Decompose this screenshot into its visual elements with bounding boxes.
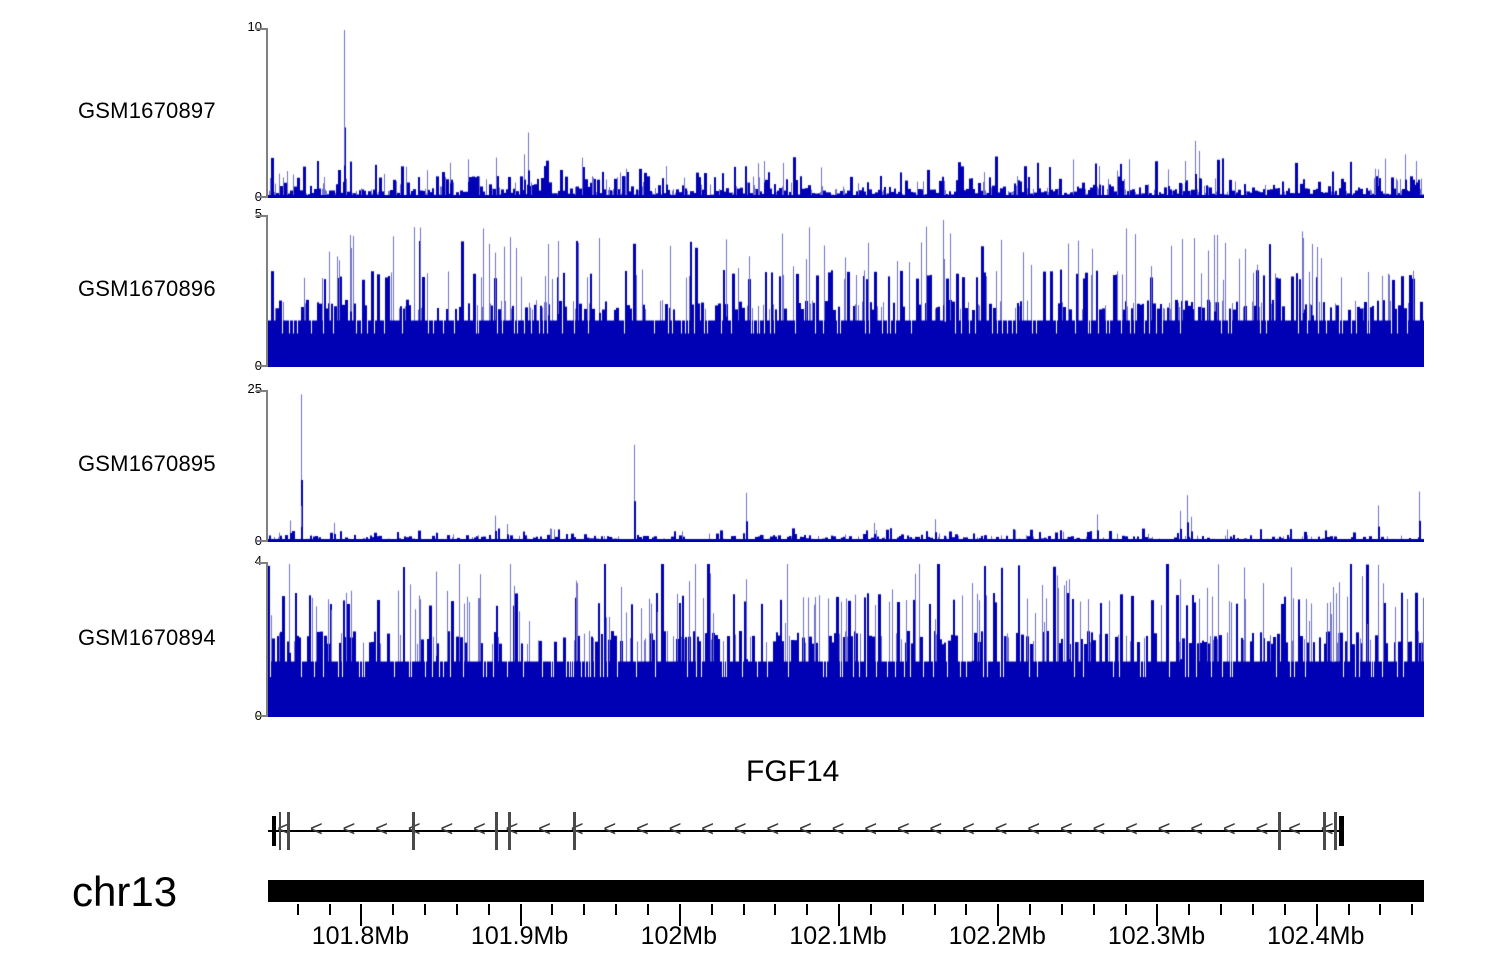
axis-minor-tick: [1252, 904, 1254, 915]
axis-minor-tick: [934, 904, 936, 915]
coverage-histogram: [268, 390, 1424, 542]
strand-arrow-icon: <: [1027, 818, 1040, 840]
axis-minor-tick: [806, 904, 808, 915]
y-axis-bottom-tick: [256, 540, 268, 542]
y-axis-bottom-tick: [256, 715, 268, 717]
axis-minor-tick: [1284, 904, 1286, 915]
strand-arrow-icon: <: [1158, 818, 1171, 840]
strand-arrow-icon: <: [538, 818, 551, 840]
exon-6[interactable]: [508, 812, 511, 850]
axis-minor-tick: [870, 904, 872, 915]
strand-arrow-icon: <: [1288, 818, 1301, 840]
strand-arrow-icon: <: [995, 818, 1008, 840]
strand-arrow-icon: <: [1060, 818, 1073, 840]
strand-arrow-icon: <: [929, 818, 942, 840]
axis-tick-label: 102.3Mb: [1108, 922, 1205, 951]
strand-arrow-icon: <: [343, 818, 356, 840]
axis-minor-tick: [329, 904, 331, 915]
track-label: GSM1670894: [78, 625, 216, 651]
exon-4[interactable]: [412, 812, 415, 850]
strand-arrow-icon: <: [962, 818, 975, 840]
coverage-histogram: [268, 562, 1424, 717]
gene-model-panel: FGF14 <<<<<<<<<<<<<<<<<<<<<<<<<<<<<<<<<: [0, 755, 1500, 870]
axis-minor-tick: [1125, 904, 1127, 915]
strand-arrow-icon: <: [1255, 818, 1268, 840]
axis-minor-tick: [1029, 904, 1031, 915]
chromosome-axis-panel: chr13 101.8Mb101.9Mb102Mb102.1Mb102.2Mb1…: [0, 860, 1500, 980]
strand-arrow-icon: <: [832, 818, 845, 840]
exon-11[interactable]: [1339, 816, 1344, 846]
strand-arrow-icon: <: [375, 818, 388, 840]
strand-arrow-icon: <: [1223, 818, 1236, 840]
axis-minor-tick: [297, 904, 299, 915]
chromosome-label: chr13: [72, 868, 177, 916]
coverage-plot-area[interactable]: [268, 28, 1424, 198]
y-axis-bottom-tick: [256, 196, 268, 198]
exon-9[interactable]: [1323, 812, 1326, 850]
axis-minor-tick: [1220, 904, 1222, 915]
axis-minor-tick: [424, 904, 426, 915]
strand-arrow-icon: <: [864, 818, 877, 840]
axis-minor-tick: [1188, 904, 1190, 915]
axis-minor-tick: [583, 904, 585, 915]
coverage-histogram: [268, 28, 1424, 198]
strand-arrow-icon: <: [897, 818, 910, 840]
coverage-histogram: [268, 215, 1424, 367]
strand-arrow-icon: <: [440, 818, 453, 840]
y-axis-max-label: 10: [228, 19, 262, 34]
coverage-track-gsm1670897[interactable]: GSM1670897100: [0, 28, 1500, 198]
axis-minor-tick: [488, 904, 490, 915]
strand-arrow-icon: <: [473, 818, 486, 840]
track-label: GSM1670895: [78, 451, 216, 477]
strand-arrow-icon: <: [1092, 818, 1105, 840]
genome-browser-view: GSM1670897100GSM167089650GSM1670895250GS…: [0, 0, 1500, 980]
strand-arrow-icon: <: [669, 818, 682, 840]
strand-arrow-icon: <: [636, 818, 649, 840]
exon-8[interactable]: [1278, 812, 1281, 850]
axis-minor-tick: [1093, 904, 1095, 915]
axis-minor-tick: [743, 904, 745, 915]
strand-arrow-icon: <: [799, 818, 812, 840]
y-axis-max-label: 25: [228, 381, 262, 396]
axis-minor-tick: [1348, 904, 1350, 915]
coverage-plot-area[interactable]: [268, 562, 1424, 717]
axis-tick-label: 102.1Mb: [789, 922, 886, 951]
axis-minor-tick: [902, 904, 904, 915]
strand-arrow-icon: <: [766, 818, 779, 840]
y-axis-bottom-tick: [256, 365, 268, 367]
exon-5[interactable]: [495, 812, 498, 850]
exon-7[interactable]: [573, 812, 576, 850]
strand-arrow-icon: <: [310, 818, 323, 840]
axis-minor-tick: [774, 904, 776, 915]
strand-arrow-icon: <: [1125, 818, 1138, 840]
strand-arrow-icon: <: [734, 818, 747, 840]
axis-minor-tick: [551, 904, 553, 915]
axis-tick-label: 102.4Mb: [1267, 922, 1364, 951]
exon-2[interactable]: [279, 812, 281, 850]
axis-tick-label: 102Mb: [641, 922, 717, 951]
axis-minor-tick: [1411, 904, 1413, 915]
axis-minor-tick: [711, 904, 713, 915]
coverage-track-gsm1670895[interactable]: GSM1670895250: [0, 390, 1500, 542]
axis-minor-tick: [647, 904, 649, 915]
axis-minor-tick: [392, 904, 394, 915]
axis-minor-tick: [965, 904, 967, 915]
ideogram-bar[interactable]: [268, 880, 1424, 902]
strand-arrow-icon: <: [701, 818, 714, 840]
strand-arrow-icon: <: [1190, 818, 1203, 840]
exon-1[interactable]: [272, 816, 276, 846]
axis-tick-label: 102.2Mb: [949, 922, 1046, 951]
axis-minor-tick: [456, 904, 458, 915]
exon-10[interactable]: [1334, 812, 1337, 850]
gene-name-label: FGF14: [0, 755, 1500, 789]
coverage-track-gsm1670896[interactable]: GSM167089650: [0, 215, 1500, 367]
strand-arrow-icon: <: [603, 818, 616, 840]
y-axis-max-label: 5: [228, 206, 262, 221]
coverage-track-gsm1670894[interactable]: GSM167089440: [0, 562, 1500, 717]
coverage-plot-area[interactable]: [268, 215, 1424, 367]
y-axis-max-label: 4: [228, 553, 262, 568]
axis-minor-tick: [1061, 904, 1063, 915]
axis-tick-label: 101.9Mb: [471, 922, 568, 951]
exon-3[interactable]: [287, 812, 290, 850]
track-label: GSM1670897: [78, 98, 216, 124]
axis-minor-tick: [615, 904, 617, 915]
track-label: GSM1670896: [78, 276, 216, 302]
axis-tick-label: 101.8Mb: [312, 922, 409, 951]
coverage-plot-area[interactable]: [268, 390, 1424, 542]
gene-structure[interactable]: <<<<<<<<<<<<<<<<<<<<<<<<<<<<<<<<<: [0, 800, 1500, 860]
axis-minor-tick: [1379, 904, 1381, 915]
